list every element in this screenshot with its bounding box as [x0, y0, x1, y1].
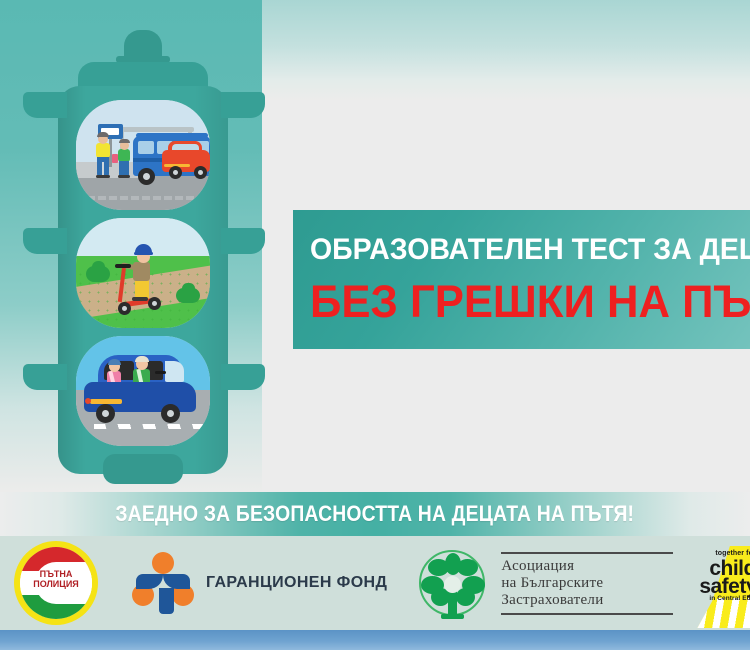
- page-title: ОБРАЗОВАТЕЛЕН ТЕСТ ЗА ДЕЦА: [310, 235, 728, 265]
- child-legs: [119, 161, 129, 176]
- figure-body: [159, 588, 174, 614]
- scooter-handlebar: [115, 264, 131, 268]
- red-car-wheel-hub: [198, 170, 203, 175]
- traffic-light-right-visor-bottom: [221, 364, 265, 390]
- background-top-wash: [262, 0, 750, 100]
- police-label: ПЪТНА ПОЛИЦИЯ: [22, 569, 90, 589]
- bus-stop-scene: [76, 100, 210, 210]
- driver-hair: [135, 356, 149, 362]
- car-tail-light: [85, 398, 91, 404]
- child-passenger-hair: [108, 359, 121, 365]
- scooter-wheel-hub: [122, 306, 127, 311]
- red-car-wheel-hub: [173, 170, 178, 175]
- logo-association-bulgarian-insurers[interactable]: Асоциация на Българските Застрахователи: [419, 546, 673, 620]
- slogan-banner: ЗАЕДНО ЗА БЕЗОПАСНОСТТА НА ДЕЦАТА НА ПЪТ…: [0, 492, 750, 536]
- lane-markings: [94, 424, 210, 429]
- police-label-line2: ПОЛИЦИЯ: [22, 579, 90, 589]
- guarantee-fund-label: ГАРАНЦИОНЕН ФОНД: [206, 574, 387, 592]
- association-label-line2: на Българските: [501, 575, 673, 592]
- bus-wheel-hub: [143, 173, 150, 180]
- traffic-light-left-visor-middle: [23, 228, 67, 254]
- adult-hair: [97, 132, 109, 137]
- traffic-light-right-visor-middle: [221, 228, 265, 254]
- bus-shelter-roof: [116, 127, 194, 132]
- child-shoes: [118, 175, 130, 178]
- traffic-light-base: [103, 454, 183, 484]
- logo-road-police[interactable]: ПЪТНА ПОЛИЦИЯ: [14, 541, 98, 625]
- traffic-light-left-visor-top: [23, 92, 67, 118]
- bush-top: [182, 283, 195, 294]
- divider-bottom: [501, 613, 673, 615]
- child-safety-line-bottom: in Central Europe.: [709, 595, 750, 602]
- traffic-light-lens-bus-stop: [76, 100, 210, 210]
- scooter-scene: [76, 218, 210, 328]
- car-wheel-hub: [102, 410, 109, 417]
- logo-child-safety[interactable]: together for child safety in Central Eur…: [691, 538, 750, 628]
- rider-shoes: [132, 297, 148, 301]
- association-label-line1: Асоциация: [501, 558, 673, 575]
- logo-guarantee-fund[interactable]: ГАРАНЦИОНЕН ФОНД: [132, 552, 387, 614]
- helmet-brim: [134, 252, 153, 255]
- traffic-light-right-visor-top: [221, 92, 265, 118]
- scooter-wheel-hub: [152, 301, 157, 306]
- steering-wheel-icon: [155, 371, 166, 374]
- tree-trunk-base: [441, 614, 464, 619]
- partner-logo-row: ПЪТНА ПОЛИЦИЯ ГАРАНЦИОНЕН ФОНД: [0, 536, 750, 630]
- figure-left-arm: [136, 574, 163, 589]
- traffic-light-lens-car: [76, 336, 210, 446]
- traffic-light-lens-scooter: [76, 218, 210, 328]
- crosswalk-icon: [697, 598, 750, 628]
- slogan-text: ЗАЕДНО ЗА БЕЗОПАСНОСТТА НА ДЕЦАТА НА ПЪТ…: [116, 501, 635, 527]
- car-seatbelt-scene: [76, 336, 210, 446]
- car-wheel-hub: [167, 410, 174, 417]
- association-label-lines: Асоциация на Българските Застрахователи: [501, 554, 673, 613]
- association-label-line3: Застрахователи: [501, 592, 673, 609]
- bus-window: [138, 141, 154, 154]
- adult-torso: [96, 143, 110, 158]
- car-windshield: [165, 361, 184, 382]
- guarantee-fund-mark: [132, 552, 194, 614]
- orange-dot-top: [152, 552, 174, 574]
- headline-block: ОБРАЗОВАТЕЛЕН ТЕСТ ЗА ДЕЦА БЕЗ ГРЕШКИ НА…: [293, 210, 750, 349]
- rider-legs: [135, 279, 149, 299]
- blue-figure-icon: [136, 574, 190, 614]
- figure-right-arm: [163, 574, 190, 589]
- police-label-line1: ПЪТНА: [22, 569, 90, 579]
- child-safety-line-top: together for: [715, 550, 750, 557]
- page-subtitle: БЕЗ ГРЕШКИ НА ПЪТЯ: [310, 279, 737, 324]
- child-hair: [119, 139, 130, 143]
- traffic-light-graphic: [18, 30, 270, 490]
- bottom-blue-strip: [0, 630, 750, 650]
- association-label: Асоциация на Българските Застрахователи: [501, 552, 673, 615]
- pavement-edge: [76, 196, 210, 200]
- bush-top: [92, 261, 105, 273]
- crosswalk-stripes: [697, 598, 750, 628]
- adult-leg-gap: [102, 162, 104, 176]
- tree-icon: [419, 546, 487, 620]
- adult-shoes: [96, 175, 110, 178]
- traffic-light-left-visor-bottom: [23, 364, 67, 390]
- poster-root: ОБРАЗОВАТЕЛЕН ТЕСТ ЗА ДЕЦА БЕЗ ГРЕШКИ НА…: [0, 0, 750, 650]
